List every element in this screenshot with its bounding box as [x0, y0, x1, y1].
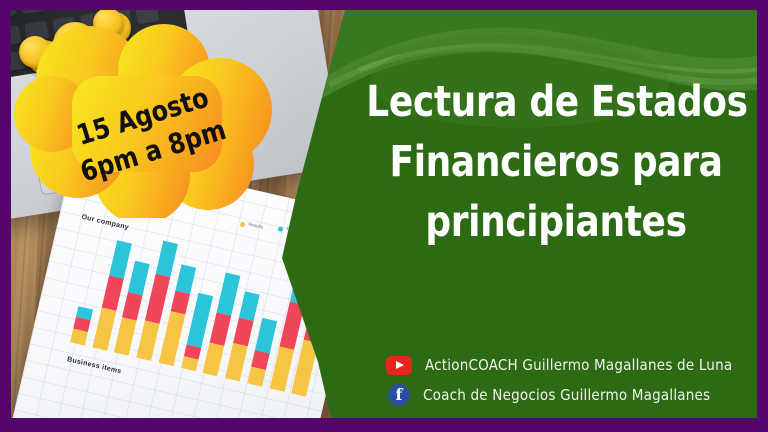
title-line-1: Lectura de Estados [366, 72, 745, 132]
bar-segment-target [310, 286, 331, 315]
bar-segment-plans [145, 273, 170, 323]
event-title: Lectura de Estados Financieros para prin… [352, 72, 760, 252]
youtube-channel-label: ActionCOACH Guillermo Magallanes de Luna [425, 356, 732, 374]
social-row-youtube[interactable]: ActionCOACH Guillermo Magallanes de Luna [386, 350, 742, 380]
title-line-2: Financieros para [366, 132, 745, 192]
bar-segment-results [159, 311, 185, 366]
border-top [0, 0, 768, 10]
bar-segment-target [186, 293, 212, 348]
bar-segment-results [92, 308, 116, 351]
title-line-3: principiantes [366, 192, 745, 252]
bar-segment-results [225, 343, 248, 381]
bar-segment-results [137, 320, 160, 361]
bar-segment-plans [233, 317, 254, 346]
border-right [757, 0, 768, 432]
promotional-flyer: Our company Results Target Plans Busines… [0, 0, 768, 432]
bar-segment-results [203, 343, 225, 377]
bar-segment-plans [210, 312, 232, 346]
bar-segment-plans [279, 302, 304, 350]
date-badge: 15 Agosto 6pm a 8pm [12, 18, 280, 218]
bar-segment-target [217, 272, 241, 315]
facebook-icon[interactable]: f [388, 384, 410, 406]
border-bottom [0, 418, 768, 432]
bar-chart-bar [70, 306, 93, 346]
bar-segment-plans [101, 275, 123, 311]
bar-segment-plans [304, 312, 325, 343]
social-links: ActionCOACH Guillermo Magallanes de Luna… [386, 350, 742, 410]
facebook-page-label: Coach de Negocios Guillermo Magallanes [423, 386, 710, 404]
bar-segment-target [156, 241, 178, 277]
bar-segment-results [247, 367, 265, 387]
social-row-facebook[interactable]: f Coach de Negocios Guillermo Magallanes [386, 380, 742, 410]
bar-segment-target [239, 292, 260, 321]
bar-segment-results [114, 317, 137, 355]
facebook-glyph: f [388, 385, 410, 405]
bar-segment-plans [122, 292, 143, 321]
bar-segment-results [70, 328, 88, 345]
bar-segment-target [255, 318, 277, 354]
youtube-icon[interactable] [386, 356, 412, 375]
bar-segment-results [269, 346, 293, 391]
border-left [0, 0, 11, 432]
bar-segment-target [128, 261, 150, 295]
bar-segment-target [109, 240, 132, 278]
bar-segment-target [175, 265, 196, 294]
